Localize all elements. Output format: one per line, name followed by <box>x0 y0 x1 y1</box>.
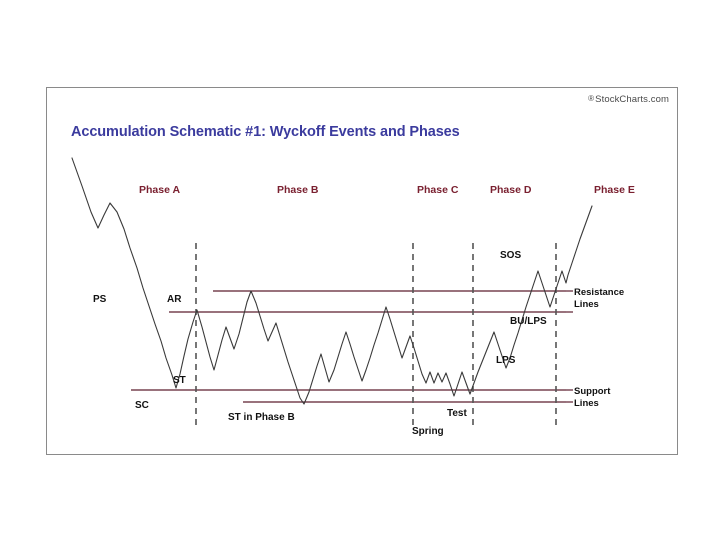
phase-label-b: Phase B <box>277 184 318 196</box>
chart-frame: ®StockCharts.com Accumulation Schematic … <box>46 87 678 455</box>
event-label-bu-lps: BU/LPS <box>510 316 547 327</box>
phase-dividers-group <box>196 243 556 426</box>
event-label-st-in-phase-b: ST in Phase B <box>228 412 295 423</box>
event-label-lps: LPS <box>496 355 515 366</box>
resistance-lines-label-line2: Lines <box>574 299 624 311</box>
screenshot-root: ®StockCharts.com Accumulation Schematic … <box>0 0 720 540</box>
phase-label-d: Phase D <box>490 184 531 196</box>
support-lines-label-line2: Lines <box>574 398 610 410</box>
event-label-sc: SC <box>135 400 149 411</box>
event-label-spring: Spring <box>412 426 444 437</box>
level-tick-marks-group <box>566 291 573 402</box>
event-label-ps: PS <box>93 294 106 305</box>
resistance-lines-label-line1: Resistance <box>574 287 624 299</box>
phase-label-c: Phase C <box>417 184 458 196</box>
support-lines-label: SupportLines <box>574 386 610 410</box>
event-label-ar: AR <box>167 294 181 305</box>
event-label-test: Test <box>447 408 467 419</box>
event-label-sos: SOS <box>500 250 521 261</box>
phase-label-e: Phase E <box>594 184 635 196</box>
resistance-lines-label: ResistanceLines <box>574 287 624 311</box>
phase-label-a: Phase A <box>139 184 180 196</box>
event-label-st: ST <box>173 375 186 386</box>
support-lines-label-line1: Support <box>574 386 610 398</box>
